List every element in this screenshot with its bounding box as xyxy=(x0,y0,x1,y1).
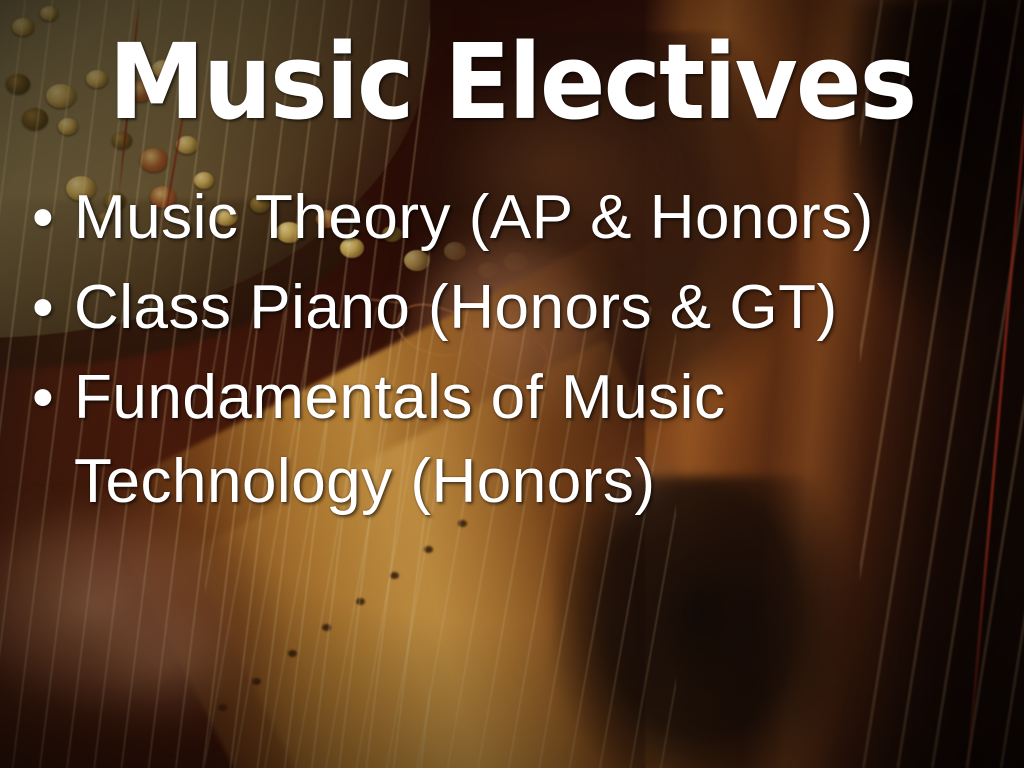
bullet-dot-icon: • xyxy=(18,356,74,440)
bullet-text: Music Theory (AP & Honors) xyxy=(74,176,1008,260)
electives-bullet-list: • Music Theory (AP & Honors) • Class Pia… xyxy=(18,176,1008,530)
slide-title: Music Electives xyxy=(36,30,988,134)
list-item: • Music Theory (AP & Honors) xyxy=(18,176,1008,260)
list-item: • Fundamentals of Music Technology (Hono… xyxy=(18,356,1008,524)
list-item: • Class Piano (Honors & GT) xyxy=(18,266,1008,350)
bullet-dot-icon: • xyxy=(18,266,74,350)
slide-content: Music Electives • Music Theory (AP & Hon… xyxy=(0,0,1024,768)
bullet-dot-icon: • xyxy=(18,176,74,260)
bullet-text: Fundamentals of Music Technology (Honors… xyxy=(74,356,1008,524)
bullet-text: Class Piano (Honors & GT) xyxy=(74,266,1008,350)
presentation-slide: Music Electives • Music Theory (AP & Hon… xyxy=(0,0,1024,768)
